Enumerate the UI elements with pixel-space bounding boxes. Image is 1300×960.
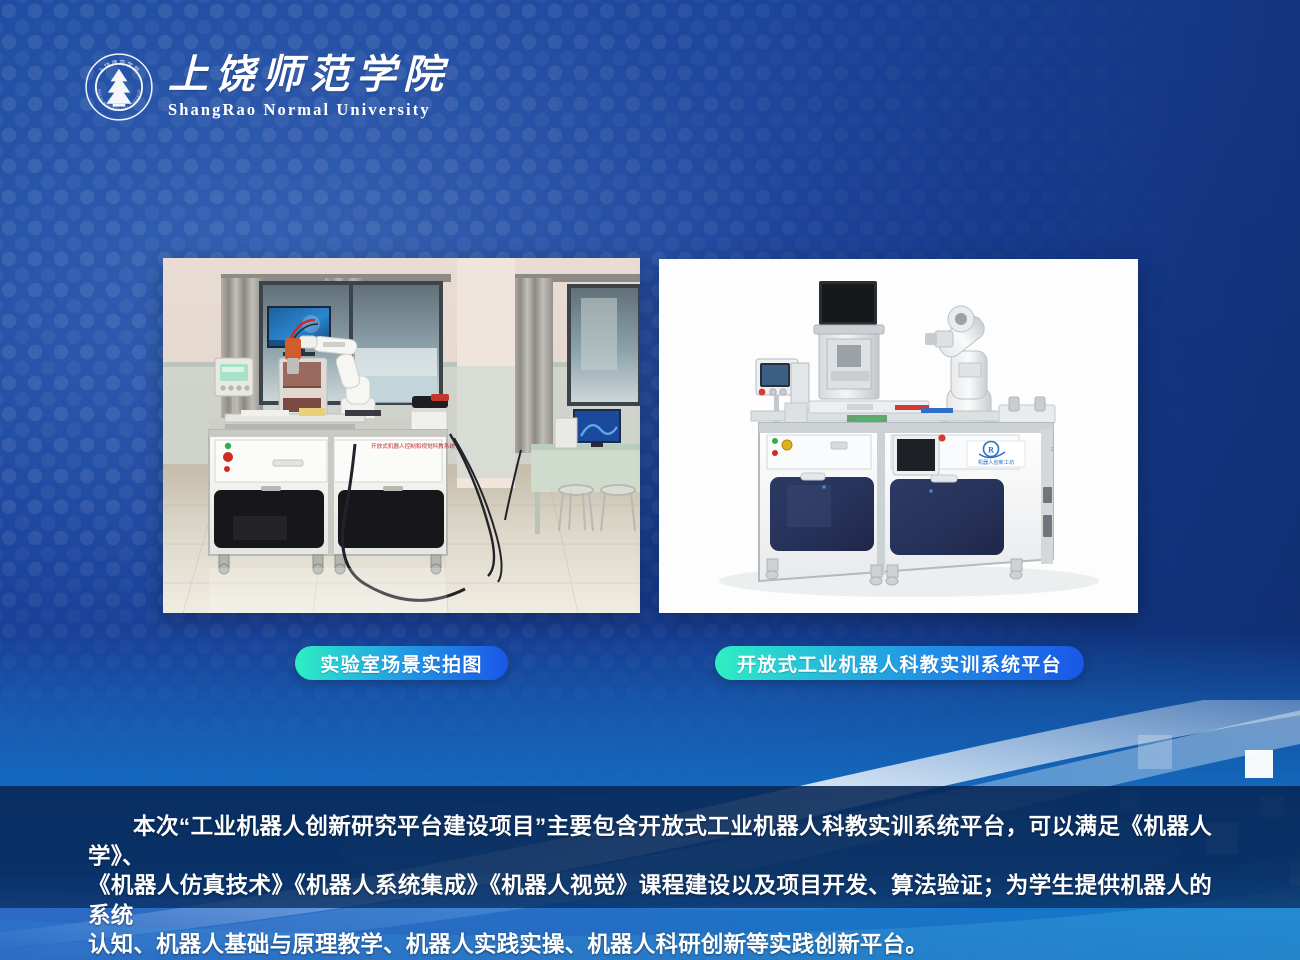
description-paragraph: 本次“工业机器人创新研究平台建设项目”主要包含开放式工业机器人科教实训系统平台，… xyxy=(88,812,1212,960)
university-seal-icon: 上饶师范学院 SHANGRAO NORMAL COLLEGE xyxy=(84,52,154,122)
slide-root: 上饶师范学院 SHANGRAO NORMAL COLLEGE 上饶师范学院 Sh… xyxy=(0,0,1300,960)
svg-text:R: R xyxy=(988,446,994,455)
lab-photo[interactable]: 开放式机器人控制和视觉科教系统 xyxy=(163,258,640,613)
platform-render-photo[interactable]: R 机器人创新工坊 2 xyxy=(659,259,1138,613)
svg-text:2: 2 xyxy=(1051,447,1054,453)
university-name-en: ShangRao Normal University xyxy=(168,100,450,120)
university-logo: 上饶师范学院 SHANGRAO NORMAL COLLEGE 上饶师范学院 Sh… xyxy=(84,52,450,122)
decorative-square-1 xyxy=(1245,750,1273,778)
svg-text:机器人创新工坊: 机器人创新工坊 xyxy=(978,458,1014,466)
caption-text-platform: 开放式工业机器人科教实训系统平台 xyxy=(737,650,1062,677)
caption-pill-platform[interactable]: 开放式工业机器人科教实训系统平台 xyxy=(715,646,1084,680)
caption-pill-lab-photo[interactable]: 实验室场景实拍图 xyxy=(295,646,508,680)
university-name-cn: 上饶师范学院 xyxy=(168,55,450,95)
decorative-square-2 xyxy=(1138,735,1172,769)
description-line-3: 认知、机器人基础与原理教学、机器人实践实操、机器人科研创新等实践创新平台。 xyxy=(88,930,1212,960)
lab-photo-image: 开放式机器人控制和视觉科教系统 xyxy=(163,258,640,613)
platform-render-image: R 机器人创新工坊 2 xyxy=(659,259,1138,613)
caption-text-lab-photo: 实验室场景实拍图 xyxy=(320,650,482,677)
machine-label-text: 开放式机器人控制和视觉科教系统 xyxy=(371,442,455,450)
description-line-1: 本次“工业机器人创新研究平台建设项目”主要包含开放式工业机器人科教实训系统平台，… xyxy=(88,812,1212,871)
machine-brand-logo-icon: R 机器人创新工坊 xyxy=(967,441,1025,467)
description-line-2: 《机器人仿真技术》《机器人系统集成》《机器人视觉》课程建设以及项目开发、算法验证… xyxy=(88,871,1212,930)
